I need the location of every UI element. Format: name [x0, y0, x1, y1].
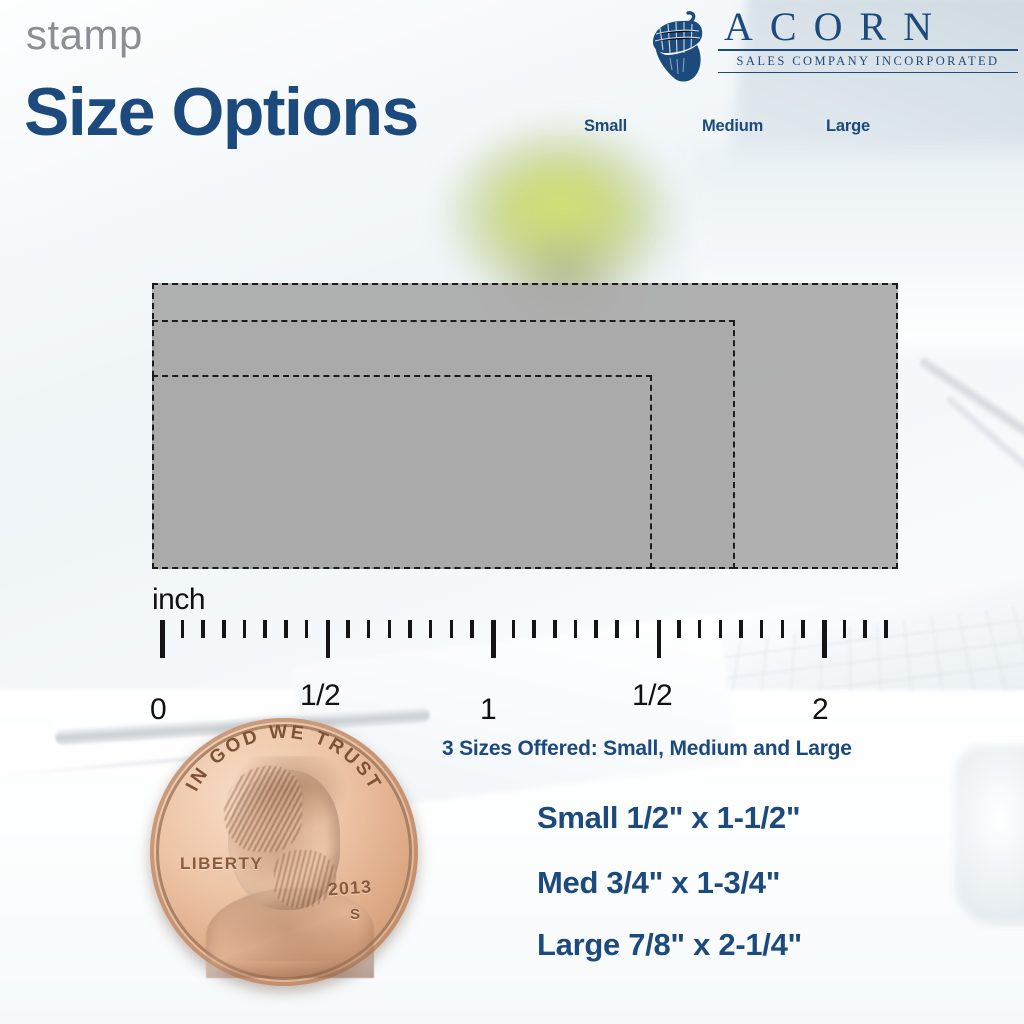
size-spec-line-2: Large 7/8" x 2-1/4"	[537, 927, 802, 963]
size-spec-line-1: Med 3/4" x 1-3/4"	[537, 865, 780, 901]
size-spec-line-0: Small 1/2" x 1-1/2"	[537, 800, 800, 836]
size-box-small	[152, 375, 652, 569]
size-box-label-small: Small	[584, 117, 627, 136]
size-box-label-large: Large	[826, 117, 870, 136]
size-options-infographic: stamp Size Options ACORN SALES COMPA	[0, 0, 1024, 1024]
sizes-offered-heading: 3 Sizes Offered: Small, Medium and Large	[442, 737, 852, 761]
size-box-label-medium: Medium	[702, 117, 763, 136]
